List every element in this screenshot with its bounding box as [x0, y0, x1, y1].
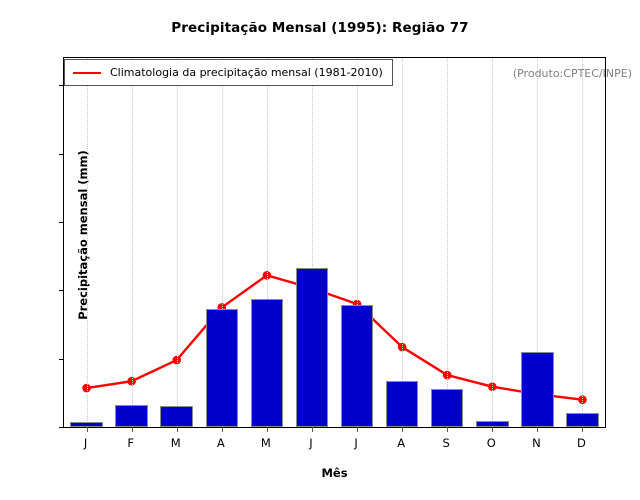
bar-n-10 — [521, 352, 553, 427]
x-tick-label: A — [381, 436, 421, 450]
x-tick-mark — [87, 427, 88, 432]
x-tick-label: D — [561, 436, 601, 450]
x-tick-mark — [312, 427, 313, 432]
x-tick-mark — [357, 427, 358, 432]
vertical-gridline — [492, 58, 493, 427]
climatology-polyline — [87, 275, 583, 399]
x-tick-label: J — [66, 436, 106, 450]
x-tick-mark — [267, 427, 268, 432]
x-tick-label: N — [516, 436, 556, 450]
x-tick-label: S — [426, 436, 466, 450]
vertical-gridline — [132, 58, 133, 427]
x-tick-label: J — [291, 436, 331, 450]
x-tick-label: O — [471, 436, 511, 450]
bar-s-8 — [431, 389, 463, 427]
x-tick-label: A — [201, 436, 241, 450]
bar-d-11 — [566, 413, 598, 427]
x-tick-label: F — [111, 436, 151, 450]
x-axis-title: Mês — [63, 466, 606, 480]
producer-annotation: (Produto:CPTEC/INPE) — [513, 67, 632, 80]
bar-o-9 — [476, 421, 508, 427]
bar-m-2 — [160, 406, 192, 427]
vertical-gridline — [582, 58, 583, 427]
precipitation-chart: Precipitação Mensal (1995): Região 77 Pr… — [0, 0, 640, 500]
chart-legend: Climatologia da precipitação mensal (198… — [64, 59, 393, 86]
x-tick-mark — [132, 427, 133, 432]
y-tick-mark — [59, 290, 64, 291]
x-tick-mark — [177, 427, 178, 432]
bar-j-5 — [296, 268, 328, 427]
bar-m-4 — [251, 299, 283, 427]
x-tick-label: M — [246, 436, 286, 450]
x-tick-mark — [222, 427, 223, 432]
y-tick-mark — [59, 427, 64, 428]
y-tick-mark — [59, 154, 64, 155]
x-tick-mark — [492, 427, 493, 432]
plot-area: Precipitação mensal (mm) 010020030040050… — [63, 57, 606, 428]
bar-j-6 — [341, 305, 373, 427]
vertical-gridline — [447, 58, 448, 427]
legend-label-climatology: Climatologia da precipitação mensal (198… — [110, 66, 383, 79]
legend-line-swatch-icon — [73, 72, 101, 74]
bar-a-7 — [386, 381, 418, 427]
x-tick-mark — [537, 427, 538, 432]
x-tick-label: J — [336, 436, 376, 450]
y-tick-mark — [59, 222, 64, 223]
vertical-gridline — [177, 58, 178, 427]
bar-f-1 — [115, 405, 147, 427]
chart-title: Precipitação Mensal (1995): Região 77 — [0, 20, 640, 36]
bar-j-0 — [70, 422, 102, 427]
x-tick-mark — [582, 427, 583, 432]
x-tick-mark — [402, 427, 403, 432]
bar-a-3 — [206, 309, 238, 427]
y-tick-mark — [59, 359, 64, 360]
x-tick-label: M — [156, 436, 196, 450]
vertical-gridline — [402, 58, 403, 427]
vertical-gridline — [87, 58, 88, 427]
x-tick-mark — [447, 427, 448, 432]
